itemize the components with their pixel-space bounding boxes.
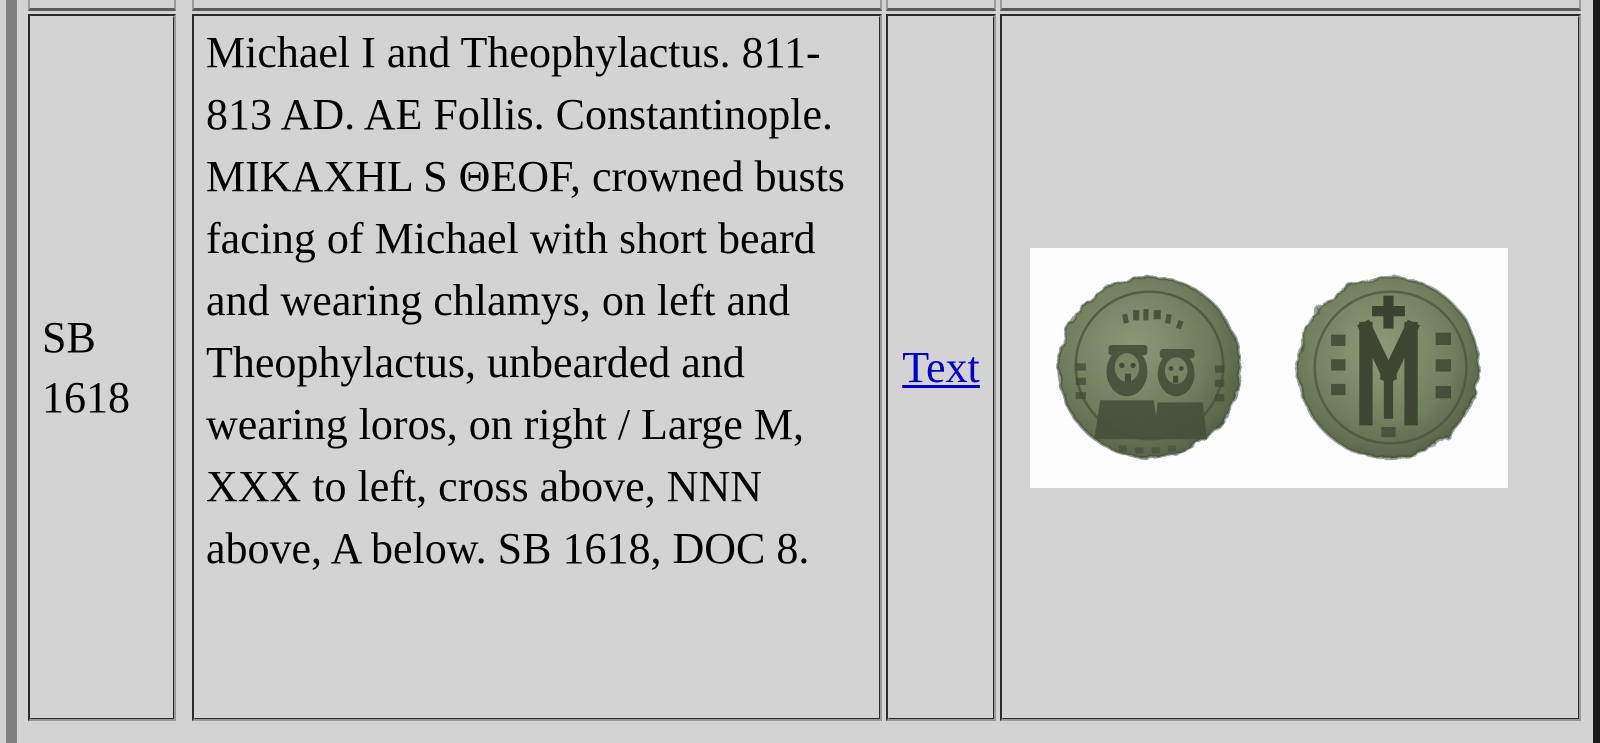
table-cell-description: Michael I and Theophylactus. 811-813 AD.… [192, 14, 882, 721]
table-cell-link: Text [886, 14, 996, 721]
left-scroll-gutter[interactable] [0, 0, 22, 743]
coin-obverse-image [1047, 265, 1252, 470]
prev-cell-reference [28, 0, 176, 11]
previous-table-row-sliver [28, 0, 1581, 11]
coin-photo-plate[interactable] [1030, 248, 1508, 488]
page-border-right [1593, 0, 1600, 743]
table-cell-reference: SB 1618 [28, 14, 176, 721]
reference-wrapper: SB 1618 [30, 16, 174, 719]
prev-cell-link [886, 0, 996, 11]
description-wrapper: Michael I and Theophylactus. 811-813 AD.… [194, 16, 880, 584]
right-page-edge [1588, 0, 1600, 743]
prev-cell-image [1000, 0, 1581, 11]
prev-cell-description [192, 0, 882, 11]
reference-number: SB 1618 [42, 308, 130, 428]
link-wrapper: Text [888, 16, 994, 719]
catalog-table: SB 1618 Michael I and Theophylactus. 811… [28, 14, 1581, 736]
coin-description: Michael I and Theophylactus. 811-813 AD.… [206, 22, 870, 580]
table-cell-image [1000, 14, 1581, 721]
page-root: SB 1618 Michael I and Theophylactus. 811… [0, 0, 1600, 743]
coin-reverse-image [1286, 265, 1491, 470]
text-link[interactable]: Text [902, 342, 980, 393]
image-wrapper [1002, 16, 1579, 719]
scrollbar-track[interactable] [6, 0, 17, 743]
